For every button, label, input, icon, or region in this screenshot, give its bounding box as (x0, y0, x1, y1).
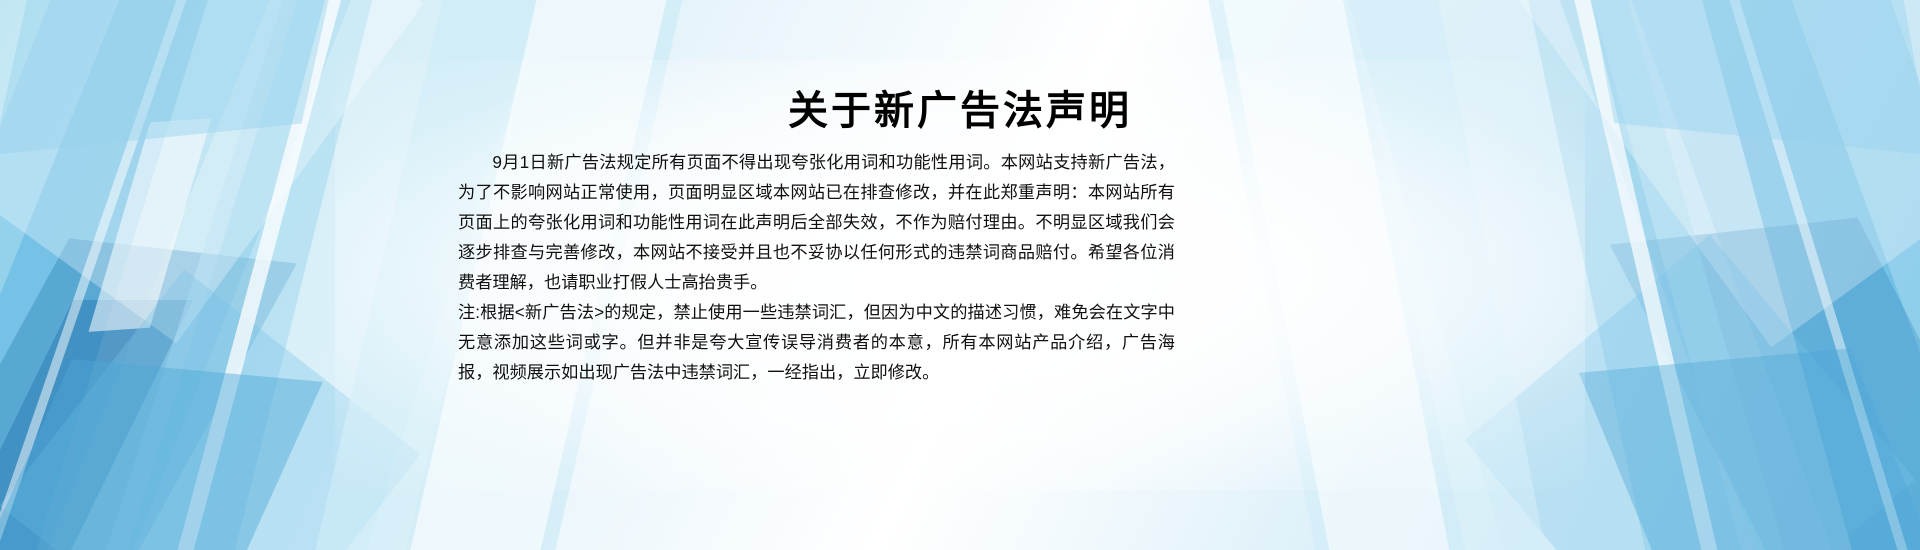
announcement-paragraph-1: 9月1日新广告法规定所有页面不得出现夸张化用词和功能性用词。本网站支持新广告法，… (458, 147, 1175, 297)
announcement-paragraph-2: 注:根据<新广告法>的规定，禁止使用一些违禁词汇，但因为中文的描述习惯，难免会在… (458, 297, 1175, 387)
announcement-body: 9月1日新广告法规定所有页面不得出现夸张化用词和功能性用词。本网站支持新广告法，… (458, 147, 1175, 387)
announcement-banner: 关于新广告法声明 9月1日新广告法规定所有页面不得出现夸张化用词和功能性用词。本… (0, 0, 1920, 550)
announcement-content: 关于新广告法声明 9月1日新广告法规定所有页面不得出现夸张化用词和功能性用词。本… (0, 0, 1920, 550)
page-title: 关于新广告法声明 (0, 86, 1920, 136)
